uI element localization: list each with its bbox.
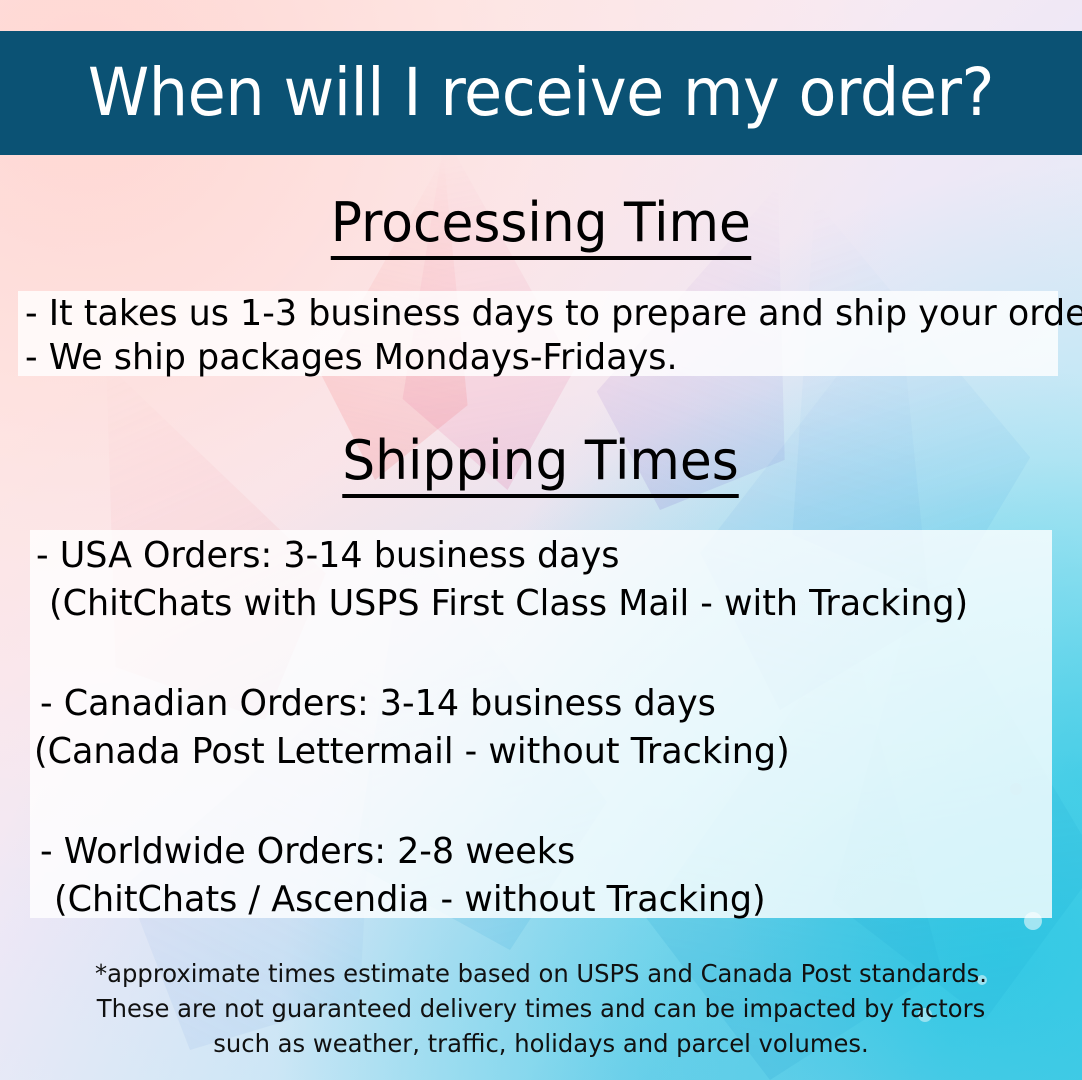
shipping-block-canada: - Canadian Orders: 3-14 business days (C… [36,680,813,776]
section-heading-processing: Processing Time [0,196,1082,260]
shipping-worldwide-line-1: - Worldwide Orders: 2-8 weeks [40,828,765,876]
shipping-block-worldwide: - Worldwide Orders: 2-8 weeks (ChitChats… [36,828,788,924]
shipping-usa-line-2: (ChitChats with USPS First Class Mail - … [49,580,968,628]
footnote-disclaimer: *approximate times estimate based on USP… [0,956,1082,1061]
shipping-info-graphic: When will I receive my order? Processing… [0,0,1082,1080]
shipping-canada-line-1: - Canadian Orders: 3-14 business days [40,680,790,728]
header-banner: When will I receive my order? [0,31,1082,155]
shipping-block-usa: - USA Orders: 3-14 business days (ChitCh… [36,532,997,628]
content-layer: When will I receive my order? Processing… [0,0,1082,1080]
processing-line-2: - We ship packages Mondays-Fridays. [25,340,678,376]
section-heading-shipping-label: Shipping Times [343,434,739,498]
footnote-line-1: *approximate times estimate based on USP… [16,956,1066,991]
shipping-canada-line-2: (Canada Post Lettermail - without Tracki… [34,728,790,776]
shipping-usa-line-1: - USA Orders: 3-14 business days [36,532,968,580]
processing-line-1: - It takes us 1-3 business days to prepa… [25,296,1082,332]
section-heading-processing-label: Processing Time [331,196,751,260]
footnote-line-2: These are not guaranteed delivery times … [16,991,1066,1026]
page-title: When will I receive my order? [88,60,994,126]
footnote-line-3: such as weather, traffic, holidays and p… [16,1026,1066,1061]
shipping-worldwide-line-2: (ChitChats / Ascendia - without Tracking… [54,876,766,924]
section-heading-shipping: Shipping Times [0,434,1082,498]
